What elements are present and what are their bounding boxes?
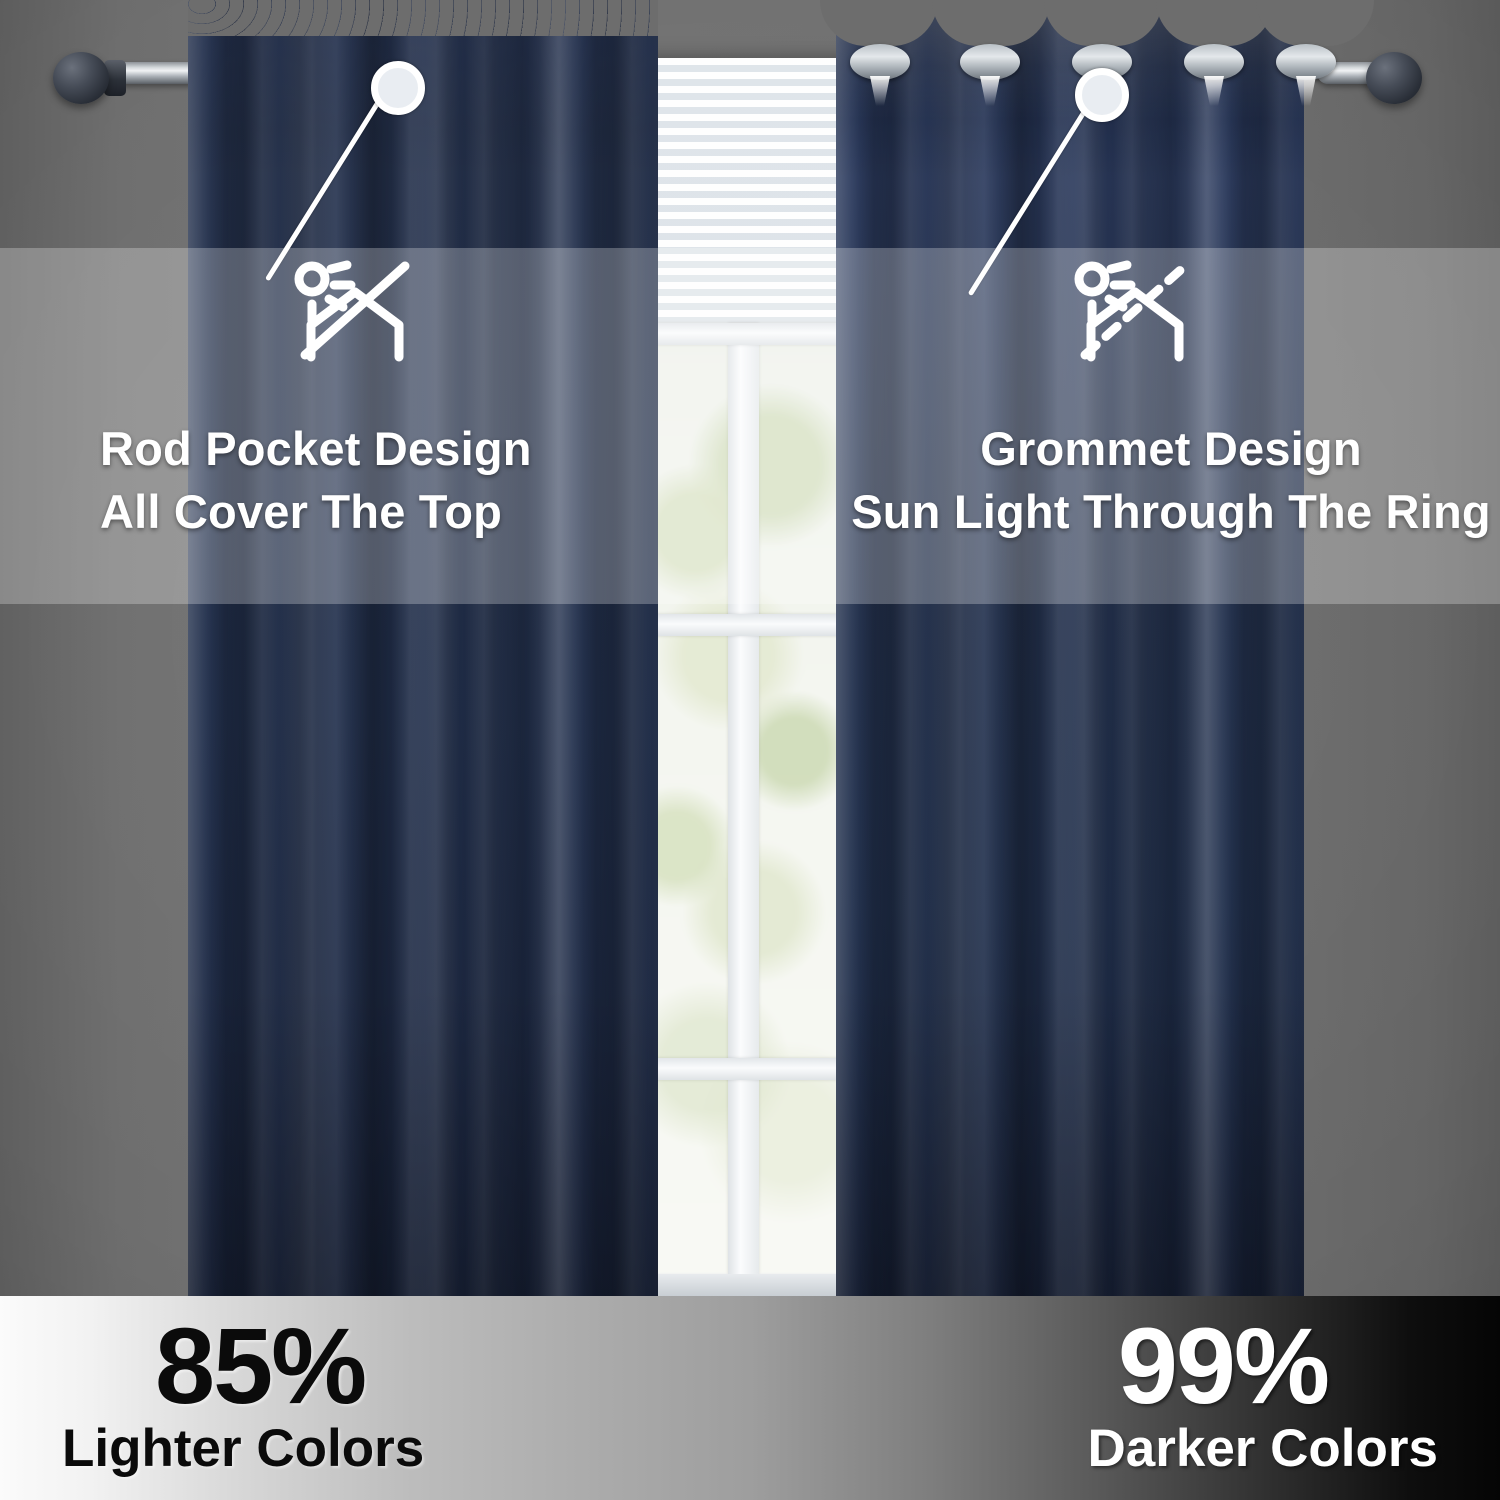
grommet-callout-dot: [1075, 68, 1129, 122]
feature-text-rod-pocket: Rod Pocket Design All Cover The Top: [100, 418, 532, 543]
window-mullion-horizontal-2: [625, 614, 860, 636]
lighter-percent-value: 85%: [155, 1312, 365, 1420]
curtain-panel-grommet: [836, 0, 1304, 1296]
rod-finial-right: [1366, 52, 1422, 104]
product-image-canvas: Rod Pocket Design All Cover The Top Grom…: [0, 0, 1500, 1500]
feature-line-1: Rod Pocket Design: [100, 418, 532, 481]
grommet-ring: [960, 44, 1020, 80]
darker-percent-label: Darker Colors: [1087, 1422, 1438, 1475]
rod-pocket-gathered-top: [188, 0, 658, 36]
feature-line-2: All Cover The Top: [100, 481, 532, 544]
grommet-ring: [1184, 44, 1244, 80]
sun-blocked-house-icon: [285, 252, 425, 372]
comparison-banner: 85% Lighter Colors 99% Darker Colors: [0, 1296, 1500, 1500]
darker-percent-value: 99%: [1118, 1312, 1328, 1420]
feature-line-2: Sun Light Through The Ring: [846, 481, 1496, 544]
curtain-shading: [836, 0, 1304, 1296]
curtain-shading: [188, 0, 658, 1296]
sheer-valance: [625, 58, 860, 326]
feature-text-grommet: Grommet Design Sun Light Through The Rin…: [846, 418, 1496, 543]
sun-through-house-icon: [1065, 252, 1205, 372]
window-mullion-vertical: [728, 323, 759, 1274]
window-mullion-horizontal-3: [625, 1058, 860, 1080]
rod-finial-left: [53, 52, 109, 104]
banner-half-lighter: 85% Lighter Colors: [0, 1296, 750, 1500]
grommet-ring: [850, 44, 910, 80]
rod-pocket-callout-dot: [371, 61, 425, 115]
window-mullion-horizontal-1: [625, 323, 860, 345]
lighter-percent-label: Lighter Colors: [62, 1422, 424, 1475]
window: [625, 58, 860, 1296]
grommet-ring: [1276, 44, 1336, 80]
feature-line-1: Grommet Design: [846, 418, 1496, 481]
banner-half-darker: 99% Darker Colors: [750, 1296, 1500, 1500]
curtain-panel-rod-pocket: [188, 0, 658, 1296]
